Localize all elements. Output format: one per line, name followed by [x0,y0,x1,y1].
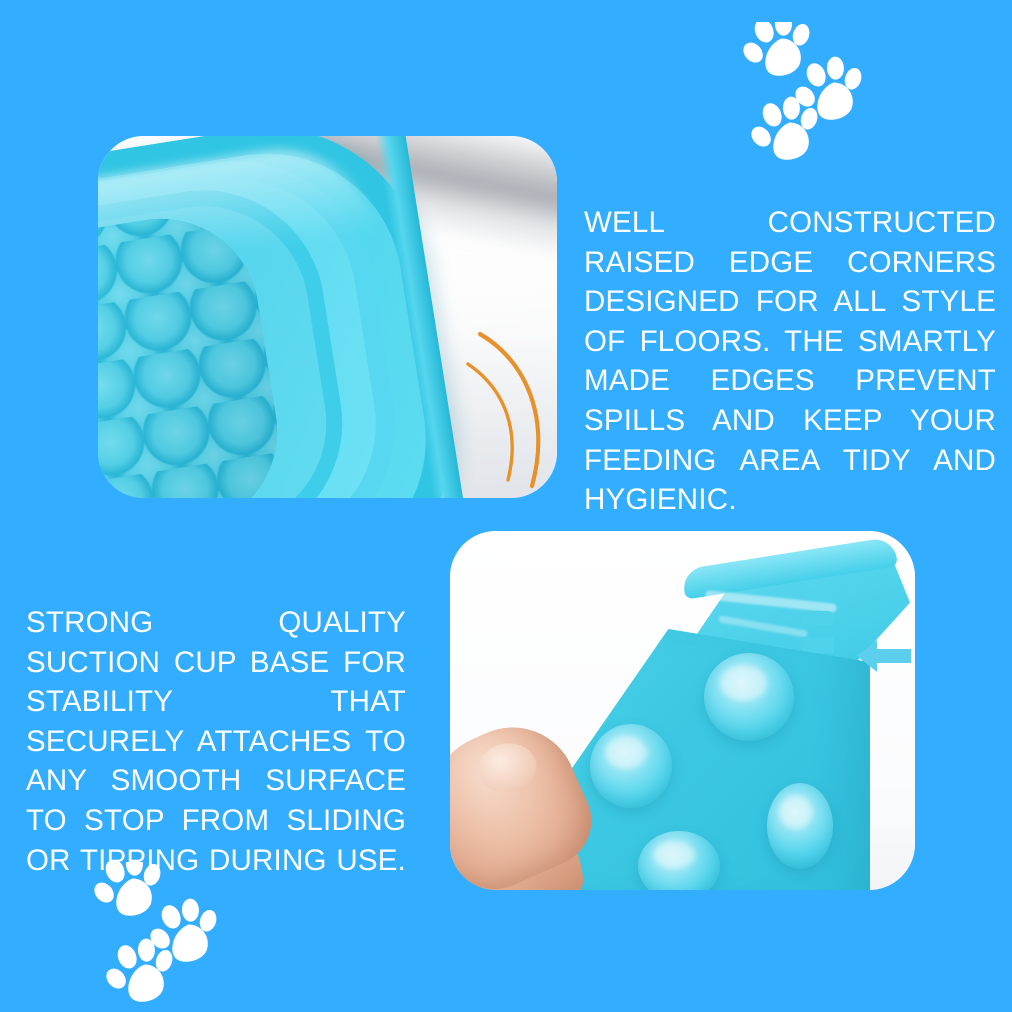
thumbnail [475,740,539,796]
paw-print-cluster-bottom-left [86,862,226,1002]
infographic-canvas: WELL CONSTRUCTED RAISED EDGE CORNERS DES… [0,0,1012,1012]
raised-edge-photo-card [98,136,557,498]
suction-cup-photo-card [450,531,915,890]
motion-arcs-icon [466,328,557,493]
suction-cup [767,783,833,869]
suction-cup [704,653,794,741]
raised-edge-feature-text: WELL CONSTRUCTED RAISED EDGE CORNERS DES… [584,203,996,559]
paw-print-cluster-top-right [735,22,867,162]
lick-mat-corner [98,136,514,498]
arrow-left-icon [855,634,913,678]
suction-cup [590,724,672,808]
